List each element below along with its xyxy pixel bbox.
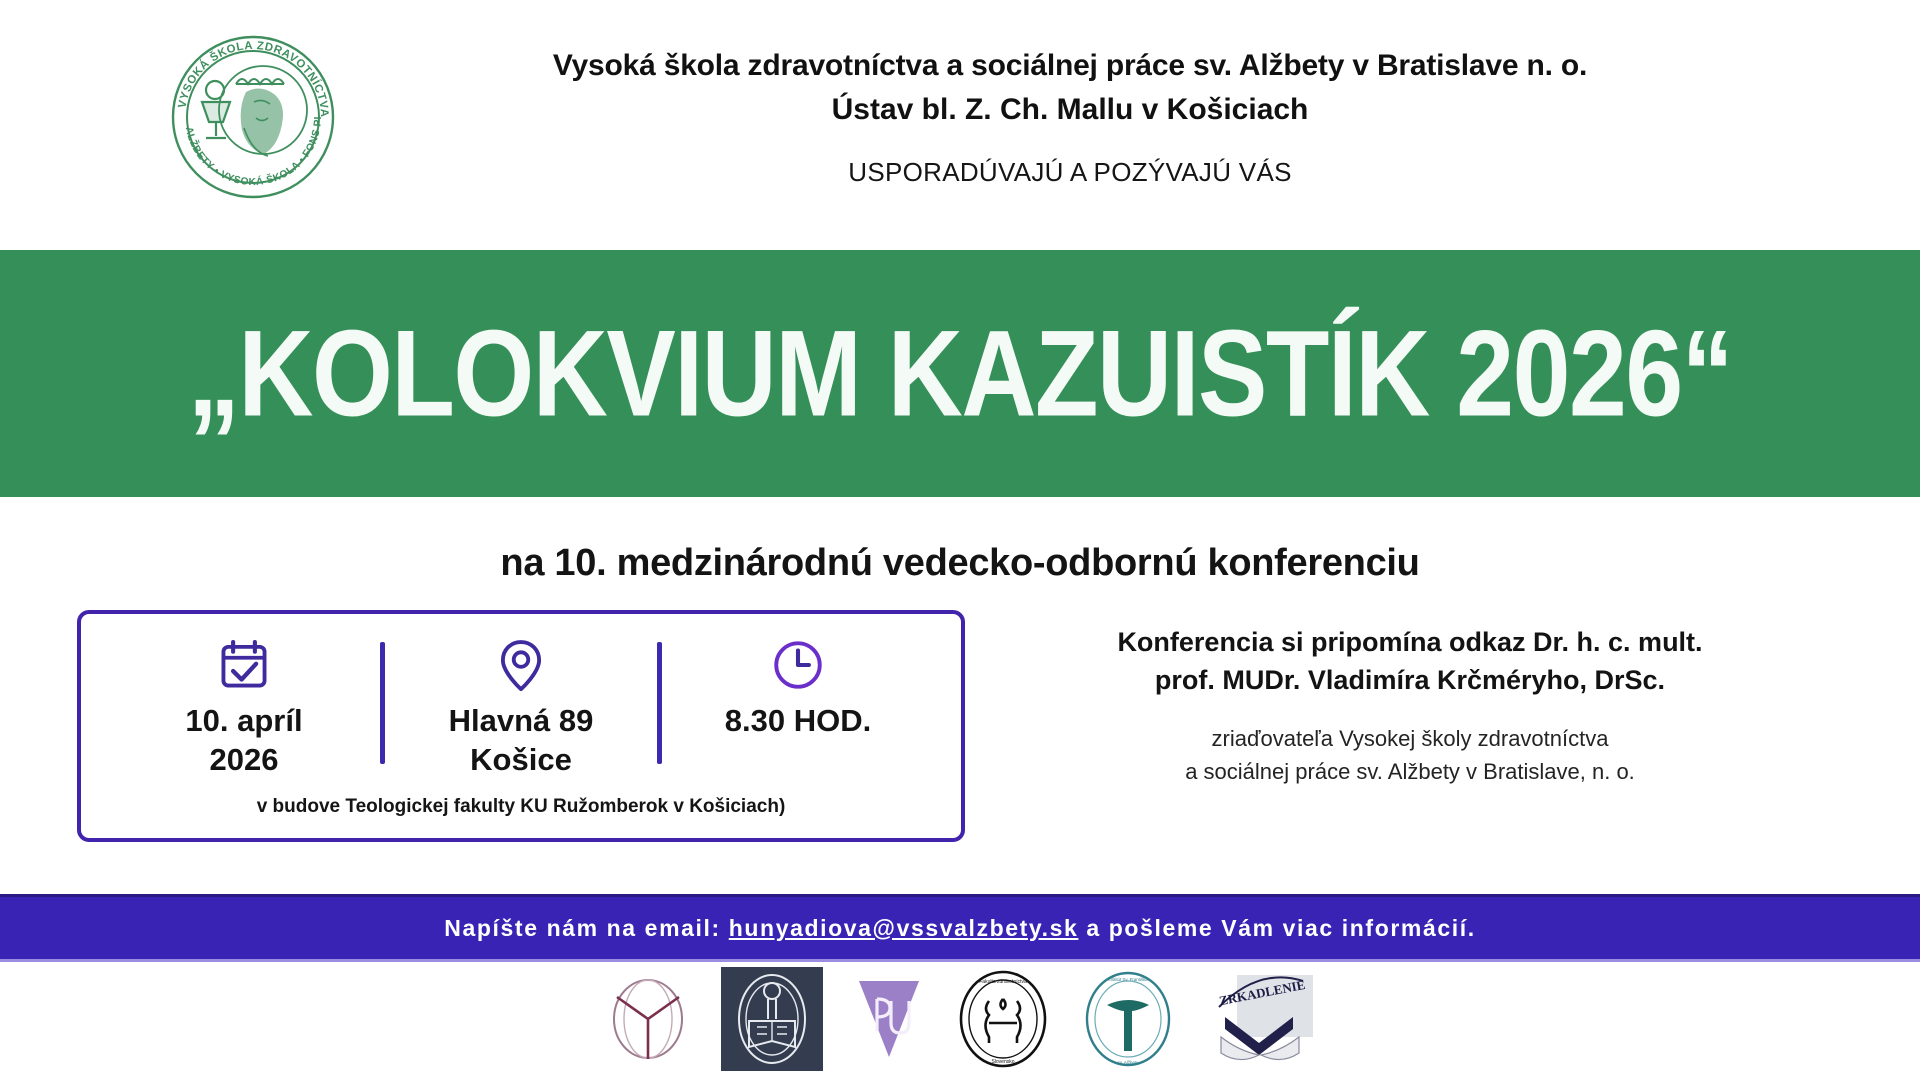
contact-email-text: Napíšte nám na email: hunyadiova@vssvalz… <box>444 915 1475 942</box>
email-prefix: Napíšte nám na email: <box>444 915 728 941</box>
event-details-box: 10. apríl 2026 Hlavná 89 Košice <box>77 610 965 842</box>
partner-logo-black-oval-crest: Fakulta zdravotníctva Slovensko <box>955 969 1051 1074</box>
title-banner: „KOLOKVIUM KAZUISTÍK 2026“ <box>0 250 1920 497</box>
partner-logos-row: Fakulta zdravotníctva Slovensko Inštitút… <box>0 962 1920 1080</box>
column-divider-1 <box>380 642 385 764</box>
university-seal-logo: VYSOKÁ ŠKOLA ZDRAVOTNÍCTVA A SOCIÁLNEJ P… <box>168 32 338 202</box>
partner-logo-dark-book-torch <box>721 967 823 1076</box>
location-pin-icon <box>403 634 639 696</box>
contact-email-link[interactable]: hunyadiova@vssvalzbety.sk <box>729 915 1079 941</box>
contact-email-bar: Napíšte nám na email: hunyadiova@vssvalz… <box>0 894 1920 962</box>
svg-text:Fakulta zdravotníctva: Fakulta zdravotníctva <box>979 979 1027 985</box>
invitation-line: USPORADÚVAJÚ A POZÝVAJÚ VÁS <box>330 157 1810 188</box>
event-details-columns: 10. apríl 2026 Hlavná 89 Košice <box>81 614 961 794</box>
detail-date: 10. apríl 2026 <box>126 634 362 780</box>
detail-location: Hlavná 89 Košice <box>403 634 639 780</box>
partner-logo-teal-oval-tau: Inštitút Sv. Františka sv. Alžbety <box>1081 969 1175 1074</box>
memorial-block: Konferencia si pripomína odkaz Dr. h. c.… <box>1010 623 1810 788</box>
memorial-subline-2: a sociálnej práce sv. Alžbety v Bratisla… <box>1010 755 1810 788</box>
location-line-1: Hlavná 89 <box>403 702 639 741</box>
organizer-line-2: Ústav bl. Z. Ch. Mallu v Košiciach <box>330 88 1810 132</box>
organizer-line-1: Vysoká škola zdravotníctva a sociálnej p… <box>330 44 1810 88</box>
venue-note: v budove Teologickej fakulty KU Ružomber… <box>81 796 961 818</box>
detail-time: 8.30 HOD. <box>680 634 916 741</box>
email-suffix: a pošleme Vám viac informácií. <box>1078 915 1475 941</box>
date-line-1: 10. apríl <box>126 702 362 741</box>
partner-logo-zrkadlenie: ZRKADLENIE <box>1205 971 1315 1072</box>
conference-poster: VYSOKÁ ŠKOLA ZDRAVOTNÍCTVA A SOCIÁLNEJ P… <box>0 0 1920 1080</box>
organizer-text-block: Vysoká škola zdravotníctva a sociálnej p… <box>330 44 1810 188</box>
clock-icon <box>680 634 916 696</box>
time-line-1: 8.30 HOD. <box>680 702 916 741</box>
conference-subtitle: na 10. medzinárodnú vedecko-odbornú konf… <box>0 542 1920 585</box>
memorial-line-2: prof. MUDr. Vladimíra Krčméryho, DrSc. <box>1010 661 1810 699</box>
subtitle-row: na 10. medzinárodnú vedecko-odbornú konf… <box>0 497 1920 585</box>
column-divider-2 <box>657 642 662 764</box>
svg-text:Slovensko: Slovensko <box>991 1059 1014 1065</box>
conference-title: „KOLOKVIUM KAZUISTÍK 2026“ <box>188 312 1732 435</box>
calendar-check-icon <box>126 634 362 696</box>
partner-logo-purple-shield-pu <box>853 973 925 1070</box>
svg-text:Inštitút Sv. Františka: Inštitút Sv. Františka <box>1108 977 1148 982</box>
date-line-2: 2026 <box>126 741 362 780</box>
poster-header: VYSOKÁ ŠKOLA ZDRAVOTNÍCTVA A SOCIÁLNEJ P… <box>0 0 1920 250</box>
memorial-subline-1: zriaďovateľa Vysokej školy zdravotníctva <box>1010 722 1810 755</box>
poster-middle: 10. apríl 2026 Hlavná 89 Košice <box>0 585 1920 894</box>
location-line-2: Košice <box>403 741 639 780</box>
svg-text:sv. Alžbety: sv. Alžbety <box>1118 1060 1139 1065</box>
partner-logo-circle-trifold <box>605 971 691 1072</box>
memorial-line-1: Konferencia si pripomína odkaz Dr. h. c.… <box>1010 623 1810 661</box>
